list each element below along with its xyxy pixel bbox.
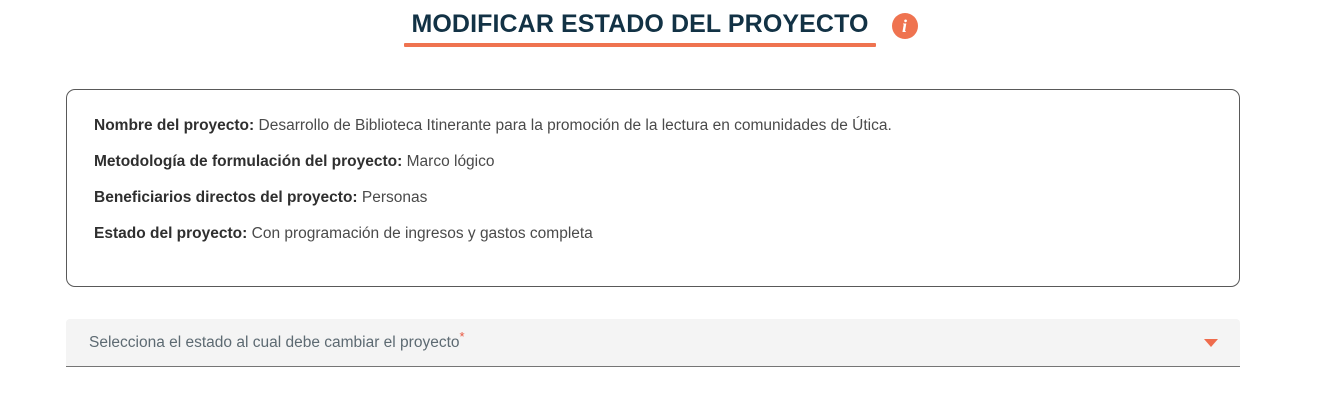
info-row: Beneficiarios directos del proyecto: Per… [94,188,1239,208]
info-row-value: Con programación de ingresos y gastos co… [252,225,593,242]
title-underline-group: MODIFICAR ESTADO DEL PROYECTO [404,10,875,47]
title-wrap: MODIFICAR ESTADO DEL PROYECTO i [404,0,917,47]
info-row-label: Metodología de formulación del proyecto: [94,153,402,170]
chevron-down-icon[interactable] [1204,339,1218,347]
state-select-placeholder-text: Selecciona el estado al cual debe cambia… [89,334,460,351]
info-icon[interactable]: i [892,13,918,39]
project-info-card: Nombre del proyecto: Desarrollo de Bibli… [66,89,1240,287]
info-row: Metodología de formulación del proyecto:… [94,152,1239,172]
info-row-label: Beneficiarios directos del proyecto: [94,189,358,206]
info-row-value: Marco lógico [407,153,495,170]
info-row: Estado del proyecto: Con programación de… [94,224,1239,244]
title-underline [404,43,875,47]
page-header: MODIFICAR ESTADO DEL PROYECTO i [0,0,1322,62]
info-row-label: Estado del proyecto: [94,225,247,242]
required-marker: * [460,328,465,343]
state-select-placeholder: Selecciona el estado al cual debe cambia… [89,334,465,352]
info-row-label: Nombre del proyecto: [94,117,254,134]
state-select[interactable]: Selecciona el estado al cual debe cambia… [66,319,1240,367]
info-row-value: Desarrollo de Biblioteca Itinerante para… [259,117,892,134]
info-row: Nombre del proyecto: Desarrollo de Bibli… [94,116,1239,136]
info-row-value: Personas [362,189,427,206]
page-title: MODIFICAR ESTADO DEL PROYECTO [404,10,875,38]
